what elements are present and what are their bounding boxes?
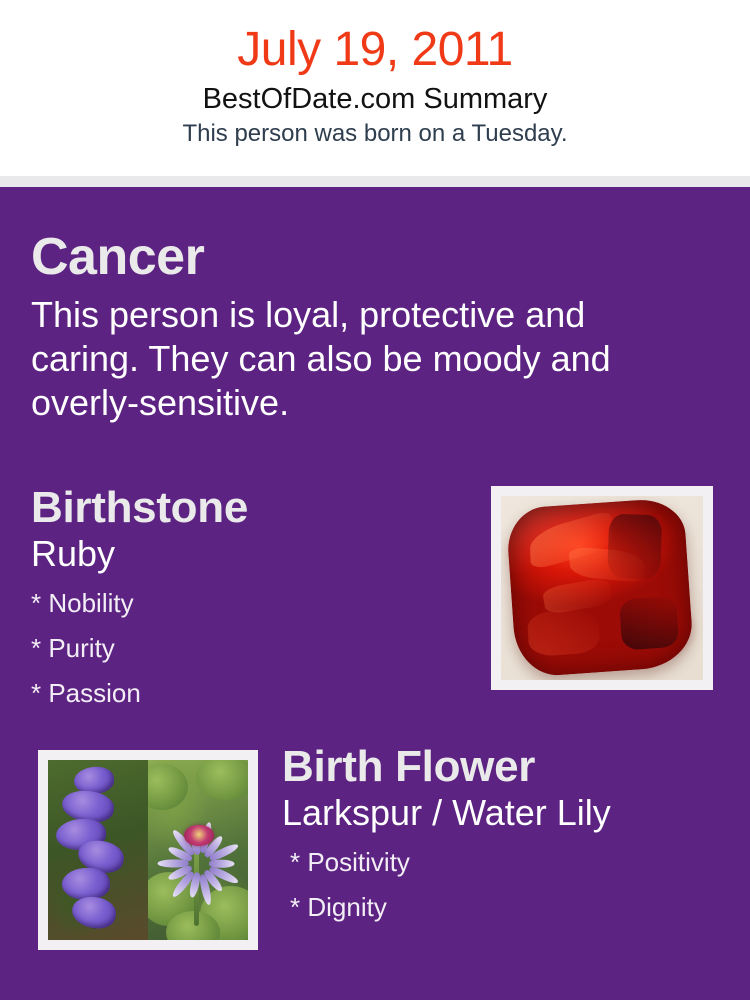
- born-day-text: This person was born on a Tuesday.: [0, 119, 750, 149]
- birthstone-heading: Birthstone: [31, 483, 461, 533]
- ruby-crystal-shape: [505, 497, 694, 678]
- page-title: July 19, 2011: [0, 22, 750, 78]
- birthstone-photo-frame: [491, 486, 713, 690]
- list-item: * Passion: [31, 671, 461, 716]
- list-item: * Purity: [31, 626, 461, 671]
- larkspur-photo-half: [48, 760, 148, 940]
- water-lily-petal: [158, 859, 189, 867]
- ruby-facet: [619, 596, 679, 651]
- birthstone-name: Ruby: [31, 533, 461, 575]
- zodiac-section: Cancer This person is loyal, protective …: [31, 228, 691, 425]
- list-item: * Dignity: [290, 885, 722, 930]
- zodiac-sign-name: Cancer: [31, 228, 691, 286]
- birthflower-section: Birth Flower Larkspur / Water Lily * Pos…: [282, 742, 722, 930]
- birthflower-trait-list: * Positivity * Dignity: [290, 840, 722, 930]
- ruby-facet: [607, 513, 663, 579]
- birthstone-trait-list: * Nobility * Purity * Passion: [31, 581, 461, 716]
- ruby-facet: [527, 608, 601, 657]
- site-subtitle: BestOfDate.com Summary: [0, 81, 750, 117]
- larkspur-and-water-lily-photo: [48, 760, 248, 940]
- water-lily-center: [184, 825, 213, 846]
- header-divider: [0, 176, 750, 187]
- water-lily-photo-half: [148, 760, 248, 940]
- list-item: * Nobility: [31, 581, 461, 626]
- zodiac-description: This person is loyal, protective and car…: [31, 293, 661, 425]
- list-item: * Positivity: [290, 840, 722, 885]
- lily-pad: [196, 760, 248, 800]
- larkspur-bloom: [70, 894, 117, 930]
- birthflower-name: Larkspur / Water Lily: [282, 792, 722, 834]
- birthstone-section: Birthstone Ruby * Nobility * Purity * Pa…: [31, 483, 461, 716]
- birthflower-photo-frame: [38, 750, 258, 950]
- birthflower-heading: Birth Flower: [282, 742, 722, 792]
- water-lily-bloom: [164, 803, 234, 864]
- summary-panel: Cancer This person is loyal, protective …: [0, 187, 750, 1000]
- page-header: July 19, 2011 BestOfDate.com Summary Thi…: [0, 0, 750, 176]
- ruby-crystal-photo: [501, 496, 703, 680]
